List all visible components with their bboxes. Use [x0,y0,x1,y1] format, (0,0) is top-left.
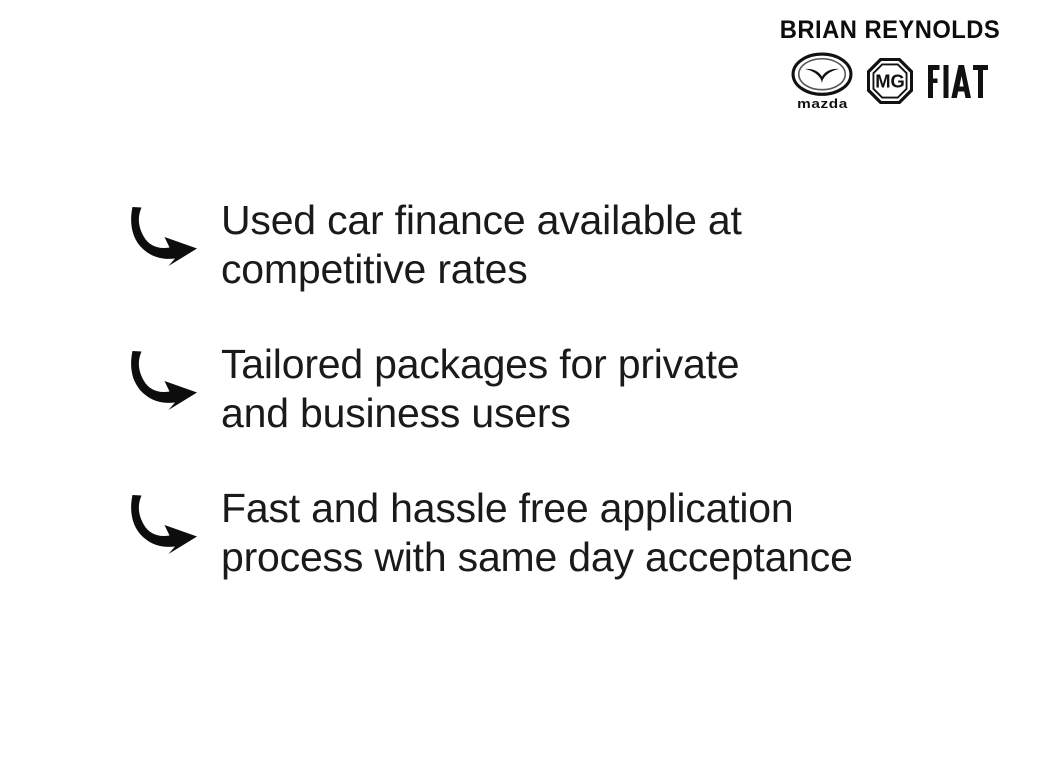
list-item-text: Used car finance available at competitiv… [221,196,968,294]
curved-arrow-icon [128,492,198,554]
list-item: Fast and hassle free application process… [128,484,968,582]
marque-mg: MG [867,58,913,104]
fiat-logo [927,63,989,100]
marque-mazda: mazda [791,52,853,110]
bullet-list: Used car finance available at competitiv… [128,196,968,582]
list-item: Tailored packages for private and busine… [128,340,968,438]
svg-text:MG: MG [875,71,905,92]
marque-logo-row: mazda MG [791,53,989,109]
list-item: Used car finance available at competitiv… [128,196,968,294]
mazda-wordmark: mazda [797,97,848,110]
curved-arrow-icon [128,348,198,410]
mg-logo: MG [867,58,913,104]
mazda-logo [791,52,853,96]
list-item-text: Fast and hassle free application process… [221,484,968,582]
list-item-text: Tailored packages for private and busine… [221,340,968,438]
curved-arrow-icon [128,204,198,266]
brand-header: BRIAN REYNOLDS mazda MG [780,18,1000,109]
marque-fiat [927,63,989,100]
dealer-name: BRIAN REYNOLDS [780,18,1000,43]
